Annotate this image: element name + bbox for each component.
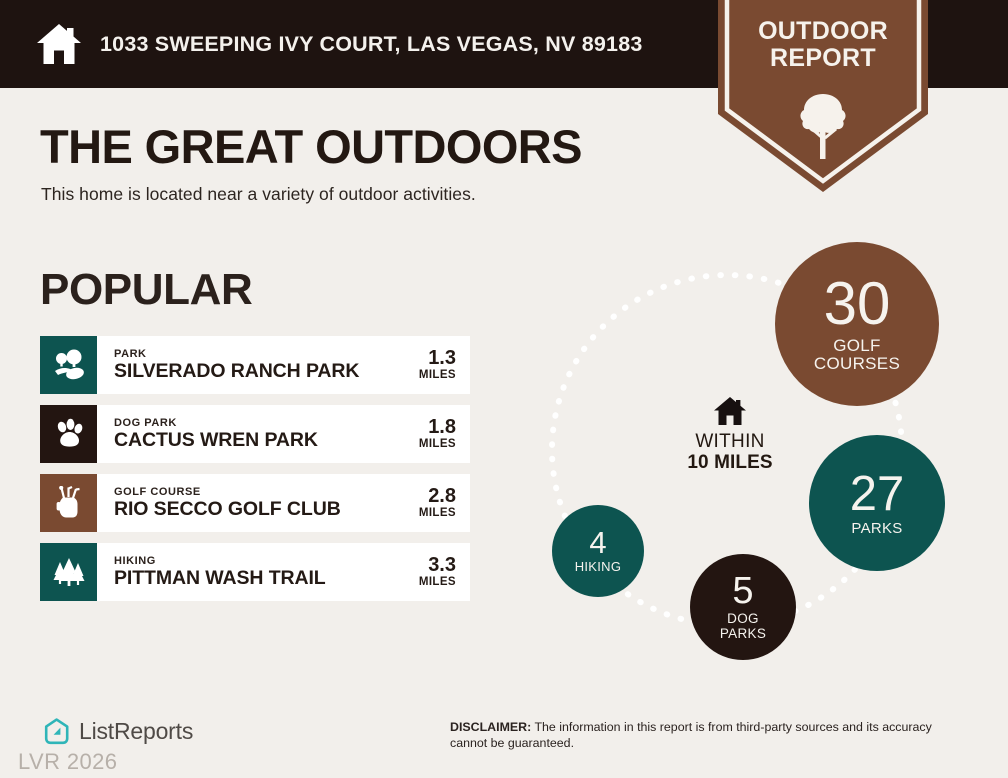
listreports-logo[interactable]: ListReports bbox=[44, 718, 193, 745]
stat-label: PARKS bbox=[851, 521, 902, 537]
listreports-logo-text: ListReports bbox=[79, 718, 193, 745]
stat-label-line2: COURSES bbox=[814, 355, 900, 373]
badge-text: OUTDOOR REPORT bbox=[718, 18, 928, 71]
poi-category: GOLF COURSE bbox=[114, 486, 408, 498]
poi-distance-unit: MILES bbox=[419, 369, 456, 382]
popular-heading: POPULAR bbox=[40, 265, 252, 315]
poi-distance: 1.3 MILES bbox=[408, 336, 470, 394]
list-item[interactable]: GOLF COURSE RIO SECCO GOLF CLUB 2.8 MILE… bbox=[40, 474, 470, 532]
stat-bubble-hiking: 4 HIKING bbox=[552, 505, 644, 597]
stat-label: GOLF COURSES bbox=[814, 337, 900, 373]
park-icon bbox=[52, 349, 86, 381]
paw-icon bbox=[53, 418, 85, 450]
golf-bag-icon bbox=[54, 486, 84, 520]
poi-icon-box bbox=[40, 336, 97, 394]
poi-distance: 3.3 MILES bbox=[408, 543, 470, 601]
poi-distance-value: 3.3 bbox=[428, 555, 456, 576]
poi-text: PARK SILVERADO RANCH PARK bbox=[97, 336, 408, 394]
stat-value: 5 bbox=[732, 573, 753, 610]
badge-line2: REPORT bbox=[718, 45, 928, 72]
poi-text: HIKING PITTMAN WASH TRAIL bbox=[97, 543, 408, 601]
poi-distance: 1.8 MILES bbox=[408, 405, 470, 463]
list-item[interactable]: PARK SILVERADO RANCH PARK 1.3 MILES bbox=[40, 336, 470, 394]
stat-label-line1: DOG bbox=[720, 612, 766, 626]
pine-trees-icon bbox=[51, 556, 87, 588]
center-line-1: WITHIN bbox=[695, 432, 764, 453]
poi-distance: 2.8 MILES bbox=[408, 474, 470, 532]
disclaimer: DISCLAIMER: The information in this repo… bbox=[450, 720, 970, 752]
disclaimer-label: DISCLAIMER: bbox=[450, 720, 531, 734]
within-10-miles-diagram: 30 GOLF COURSES 27 PARKS 5 DOG PARKS 4 H… bbox=[520, 218, 990, 668]
poi-icon-box bbox=[40, 543, 97, 601]
poi-name: SILVERADO RANCH PARK bbox=[114, 361, 408, 381]
listreports-logo-icon bbox=[44, 718, 70, 745]
popular-list: PARK SILVERADO RANCH PARK 1.3 MILES DOG … bbox=[40, 336, 470, 612]
property-address: 1033 SWEEPING IVY COURT, LAS VEGAS, NV 8… bbox=[100, 32, 643, 57]
poi-text: DOG PARK CACTUS WREN PARK bbox=[97, 405, 408, 463]
stat-value: 27 bbox=[850, 470, 905, 518]
center-line-2: 10 MILES bbox=[687, 453, 772, 474]
poi-name: CACTUS WREN PARK bbox=[114, 430, 408, 450]
poi-name: RIO SECCO GOLF CLUB bbox=[114, 499, 408, 519]
stat-value: 30 bbox=[824, 275, 891, 334]
poi-distance-unit: MILES bbox=[419, 438, 456, 451]
page-title: THE GREAT OUTDOORS bbox=[40, 119, 582, 174]
stat-label-line2: PARKS bbox=[720, 627, 766, 641]
poi-distance-value: 2.8 bbox=[428, 486, 456, 507]
stat-label-line1: GOLF bbox=[814, 337, 900, 355]
watermark: LVR 2026 bbox=[18, 749, 117, 775]
stat-bubble-dog-parks: 5 DOG PARKS bbox=[690, 554, 796, 660]
poi-category: DOG PARK bbox=[114, 417, 408, 429]
poi-icon-box bbox=[40, 474, 97, 532]
poi-distance-value: 1.3 bbox=[428, 348, 456, 369]
home-icon bbox=[713, 396, 747, 426]
poi-category: HIKING bbox=[114, 555, 408, 567]
center-marker: WITHIN 10 MILES bbox=[670, 396, 790, 473]
list-item[interactable]: HIKING PITTMAN WASH TRAIL 3.3 MILES bbox=[40, 543, 470, 601]
poi-distance-unit: MILES bbox=[419, 576, 456, 589]
list-item[interactable]: DOG PARK CACTUS WREN PARK 1.8 MILES bbox=[40, 405, 470, 463]
stat-value: 4 bbox=[589, 528, 606, 558]
home-icon bbox=[36, 22, 82, 66]
stat-label: DOG PARKS bbox=[720, 612, 766, 641]
poi-distance-value: 1.8 bbox=[428, 417, 456, 438]
stat-label: HIKING bbox=[575, 560, 622, 574]
outdoor-report-badge: OUTDOOR REPORT bbox=[718, 0, 928, 192]
poi-text: GOLF COURSE RIO SECCO GOLF CLUB bbox=[97, 474, 408, 532]
poi-category: PARK bbox=[114, 348, 408, 360]
badge-line1: OUTDOOR bbox=[718, 18, 928, 45]
poi-name: PITTMAN WASH TRAIL bbox=[114, 568, 408, 588]
poi-icon-box bbox=[40, 405, 97, 463]
stat-bubble-golf-courses: 30 GOLF COURSES bbox=[775, 242, 939, 406]
page-subtitle: This home is located near a variety of o… bbox=[41, 184, 476, 205]
stat-bubble-parks: 27 PARKS bbox=[809, 435, 945, 571]
poi-distance-unit: MILES bbox=[419, 507, 456, 520]
